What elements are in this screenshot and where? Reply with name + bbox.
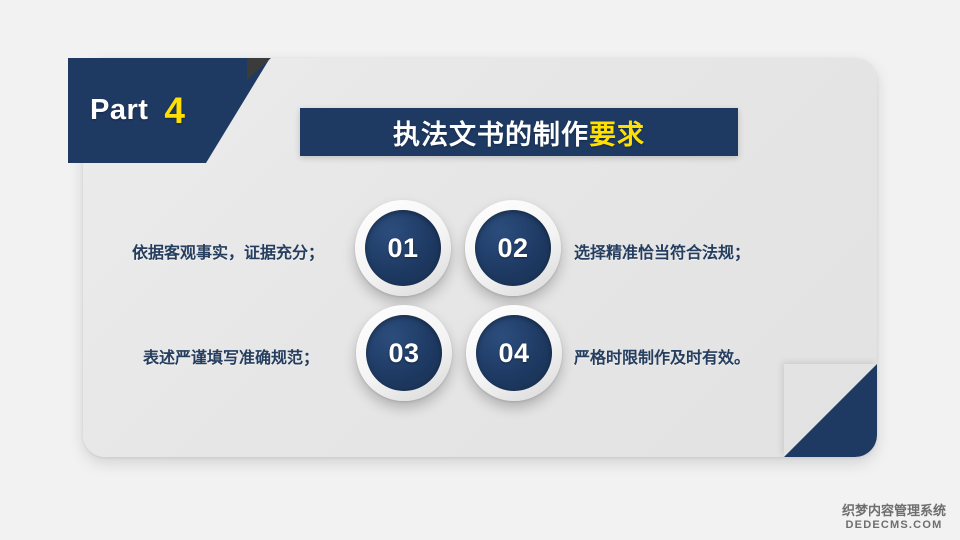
item-caption-02: 选择精准恰当符合法规； <box>574 239 750 263</box>
title-accent-text: 要求 <box>589 120 645 150</box>
number-label-03: 03 <box>388 338 419 369</box>
watermark-english-text: DEDECMS.COM <box>842 519 946 532</box>
number-circle-04[interactable]: 04 <box>466 305 562 401</box>
title-main-text: 执法文书的制作 <box>393 120 589 150</box>
part-ribbon-label: Part 4 <box>68 58 268 163</box>
item-caption-04: 严格时限制作及时有效。 <box>574 344 750 368</box>
number-circle-inner-02: 02 <box>475 210 551 286</box>
number-circle-inner-03: 03 <box>366 315 442 391</box>
slide-title-bar: 执法文书的制作要求 <box>300 108 738 156</box>
corner-wedge-decoration <box>784 364 877 457</box>
number-label-02: 02 <box>497 233 528 264</box>
number-label-01: 01 <box>387 233 418 264</box>
item-caption-03: 表述严谨填写准确规范； <box>143 344 319 368</box>
part-word-label: Part <box>90 94 148 127</box>
number-circle-01[interactable]: 01 <box>355 200 451 296</box>
item-caption-01: 依据客观事实，证据充分； <box>132 239 324 263</box>
presentation-slide: Part 4 执法文书的制作要求 01 02 03 04 依据客观事实，证据充分… <box>0 0 960 540</box>
slide-title-text: 执法文书的制作要求 <box>393 113 645 152</box>
number-circle-03[interactable]: 03 <box>356 305 452 401</box>
number-circle-inner-04: 04 <box>476 315 552 391</box>
part-number-label: 4 <box>164 90 185 132</box>
number-circle-inner-01: 01 <box>365 210 441 286</box>
watermark: 织梦内容管理系统 DEDECMS.COM <box>842 504 946 532</box>
number-circle-02[interactable]: 02 <box>465 200 561 296</box>
number-label-04: 04 <box>498 338 529 369</box>
watermark-chinese-text: 织梦内容管理系统 <box>842 504 946 519</box>
